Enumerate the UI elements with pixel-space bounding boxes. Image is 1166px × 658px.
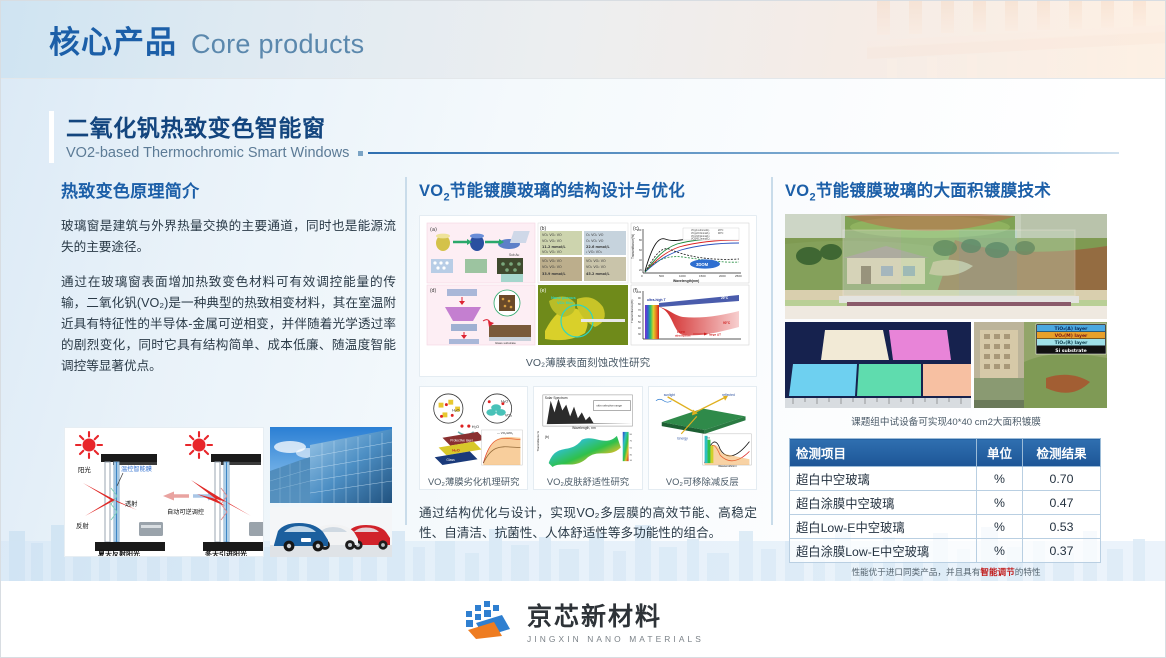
- svg-text:Protective layer: Protective layer: [450, 439, 474, 443]
- svg-text:Wavelength(nm): Wavelength(nm): [673, 279, 699, 283]
- col2-caption-1: VO₂薄膜劣化机理研究: [423, 472, 524, 488]
- svg-text:20°C: 20°C: [721, 296, 729, 300]
- column-large-area-coating: VO2节能镀膜玻璃的大面积镀膜技术: [785, 177, 1107, 578]
- column-structure-design: VO2节能镀膜玻璃的结构设计与优化 (a) Sub Au: [419, 177, 757, 543]
- cell-unit: %: [977, 467, 1023, 491]
- svg-text:Glass: Glass: [446, 458, 455, 462]
- svg-text:TiO₂(R) layer: TiO₂(R) layer: [1055, 340, 1089, 346]
- smart-window-schematic: 阳光 反射 透射 温控智能膜 自动可逆调控: [64, 427, 264, 557]
- svg-text:45.2 mmol/L: 45.2 mmol/L: [586, 272, 610, 276]
- svg-text:90°C: 90°C: [718, 232, 724, 235]
- svg-text:500: 500: [659, 274, 664, 278]
- vo2-etching-figure-icon: (a) Sub Au: [425, 221, 751, 347]
- svg-text:夏天反射阳光: 夏天反射阳光: [97, 549, 140, 557]
- svg-text:Si substrate: Si substrate: [1055, 348, 1086, 354]
- col2-paragraph: 通过结构优化与设计，实现VO₂多层膜的高效节能、高稳定性、自清洁、抗菌性、人体舒…: [419, 503, 757, 543]
- col1-heading: 热致变色原理简介: [61, 177, 396, 202]
- col2-subfigure-3: sunlight reflected Energy Wavelength(nm)…: [648, 386, 757, 490]
- col3-photo-block: TiO₂(A) layer VO₂(M) layer TiO₂(R) layer…: [785, 214, 1107, 428]
- svg-text:温控智能膜: 温控智能膜: [121, 465, 152, 473]
- col3-heading: VO2节能镀膜玻璃的大面积镀膜技术: [785, 177, 1107, 203]
- col2-figure-grid: (a) Sub Au: [419, 215, 757, 377]
- col2-heading-prefix: VO: [419, 182, 443, 200]
- svg-text:O₂ VO₂ VO: O₂ VO₂ VO: [586, 239, 604, 243]
- svg-text:VO₂ VO₂ VO: VO₂ VO₂ VO: [586, 259, 606, 263]
- svg-text:skin selective range: skin selective range: [597, 404, 623, 408]
- color-samples-photo-icon: [785, 322, 971, 408]
- svg-text:ultra-high T: ultra-high T: [647, 298, 667, 302]
- col2-subfigure-2: skin selective range Solar Spectrum Wave…: [533, 386, 642, 490]
- svg-text:Energy: Energy: [677, 437, 688, 441]
- table-row: 超白Low-E中空玻璃 % 0.53: [790, 515, 1101, 539]
- svg-text:H₂O: H₂O: [452, 408, 459, 413]
- svg-text:33.9 mmol/L: 33.9 mmol/L: [542, 272, 566, 276]
- svg-text:— VO₂/HfO₂: — VO₂/HfO₂: [497, 431, 513, 435]
- svg-text:Glass substrate: Glass substrate: [495, 341, 516, 345]
- svg-text:自动可逆调控: 自动可逆调控: [167, 508, 204, 516]
- company-logo: 京芯新材料 JINGXIN NANO MATERIALS: [464, 597, 704, 644]
- cell-unit: %: [977, 539, 1023, 563]
- antireflection-layer-icon: sunlight reflected Energy Wavelength(nm)…: [652, 391, 753, 467]
- cell-unit: %: [977, 491, 1023, 515]
- table-row: 超白涂膜Low-E中空玻璃 % 0.37: [790, 539, 1101, 563]
- cell-value: 0.37: [1023, 539, 1101, 563]
- table-row: 超白涂膜中空玻璃 % 0.47: [790, 491, 1101, 515]
- svg-text:(d): (d): [430, 288, 436, 294]
- cell-value: 0.53: [1023, 515, 1101, 539]
- svg-text:VO₂(M) layer: VO₂(M) layer: [1055, 333, 1088, 339]
- svg-text:VO₂ VO₂ VO: VO₂ VO₂ VO: [542, 259, 562, 263]
- cell-item: 超白涂膜中空玻璃: [790, 491, 977, 515]
- footnote-before: 性能优于进口同类产品，并且具有: [851, 567, 980, 577]
- svg-text:1000: 1000: [679, 274, 686, 278]
- col3-heading-rest: 节能镀膜玻璃的大面积镀膜技术: [816, 182, 1051, 200]
- th-unit: 单位: [977, 439, 1023, 467]
- svg-text:2000: 2000: [719, 274, 726, 278]
- degradation-mechanism-icon: H₂O H₂O VO₂ H₂O Protective layer H₂O Gla…: [423, 391, 524, 467]
- svg-text:反射: 反射: [76, 521, 89, 530]
- svg-text:Solar Spectrum: Solar Spectrum: [545, 396, 568, 400]
- slide-root: 核心产品 Core products: [0, 0, 1166, 658]
- coated-samples-photo: [785, 322, 971, 408]
- col1-photo-stack: [270, 427, 392, 557]
- large-panel-photo: [785, 214, 1107, 319]
- svg-text:Transmittance %: Transmittance %: [537, 431, 540, 452]
- col3-photo-caption: 课题组中试设备可实现40*40 cm2大面积镀膜: [785, 414, 1107, 428]
- test-results-table: 检测项目 单位 检测结果 超白中空玻璃 % 0.70 超白涂膜中空玻璃 % 0.…: [789, 438, 1101, 563]
- col1-paragraph-2: 通过在玻璃窗表面增加热致变色材料可有效调控能量的传输，二氧化钒(VO₂)是一种典…: [61, 272, 396, 377]
- layer-stack-diagram-icon: TiO₂(A) layer VO₂(M) layer TiO₂(R) layer…: [974, 322, 1107, 408]
- col3-heading-prefix: VO: [785, 182, 809, 200]
- cell-item: 超白涂膜Low-E中空玻璃: [790, 539, 977, 563]
- svg-text:VO₂(45.2mmol/L): VO₂(45.2mmol/L): [691, 238, 710, 241]
- header-title: 核心产品 Core products: [49, 17, 364, 62]
- cars-photo: [270, 507, 392, 557]
- campus-field-photo-icon: [785, 214, 1107, 319]
- building-watermark-icon: [867, 1, 1166, 79]
- svg-text:sunlight: sunlight: [663, 393, 674, 397]
- svg-text:VO₂ VO₂ VO: VO₂ VO₂ VO: [542, 233, 562, 237]
- svg-text:100: 100: [637, 291, 642, 294]
- svg-text:(e): (e): [540, 288, 546, 294]
- cars-photo-icon: [270, 507, 392, 557]
- svg-text:absorption: absorption: [675, 334, 691, 338]
- column-divider-2: [771, 177, 773, 525]
- th-item: 检测项目: [790, 439, 977, 467]
- col3-lower-photos: TiO₂(A) layer VO₂(M) layer TiO₂(R) layer…: [785, 322, 1107, 408]
- film-stack-photo: TiO₂(A) layer VO₂(M) layer TiO₂(R) layer…: [974, 322, 1107, 408]
- svg-text:100: 100: [637, 228, 642, 232]
- glass-building-photo-icon: [270, 427, 392, 503]
- svg-text:Wavelength(nm): Wavelength(nm): [718, 465, 737, 467]
- svg-text:(a): (a): [430, 227, 437, 233]
- header-title-en: Core products: [191, 29, 364, 60]
- svg-text:Transmittance(%): Transmittance(%): [630, 300, 634, 324]
- svg-text:阳光: 阳光: [78, 465, 91, 474]
- col2-heading: VO2节能镀膜玻璃的结构设计与优化: [419, 177, 757, 203]
- svg-text:透射: 透射: [125, 500, 137, 508]
- svg-text:(b): (b): [545, 435, 549, 439]
- section-title-cn: 二氧化钒热致变色智能窗: [66, 109, 1119, 143]
- section-title-en: VO2-based Thermochromic Smart Windows: [66, 145, 349, 161]
- svg-text:Transmittance(%): Transmittance(%): [631, 234, 635, 259]
- logo-text-en: JINGXIN NANO MATERIALS: [527, 634, 704, 644]
- header-title-cn: 核心产品: [49, 17, 177, 62]
- col2-caption-3: VO₂可移除减反层: [652, 472, 753, 488]
- col2-subfigure-row: H₂O H₂O VO₂ H₂O Protective layer H₂O Gla…: [419, 386, 757, 490]
- svg-text:11.2 mmol/L: 11.2 mmol/L: [542, 245, 566, 249]
- footnote-highlight: 智能调节: [980, 567, 1014, 577]
- logo-text-cn: 京芯新材料: [527, 597, 704, 633]
- cell-unit: %: [977, 515, 1023, 539]
- col2-main-caption: VO₂薄膜表面刻蚀改性研究: [425, 352, 751, 371]
- svg-text:22.6 mmol/L: 22.6 mmol/L: [586, 245, 610, 249]
- svg-text:VO₂ VO₂ VO: VO₂ VO₂ VO: [542, 239, 562, 243]
- svg-text:1500: 1500: [699, 274, 706, 278]
- cell-item: 超白中空玻璃: [790, 467, 977, 491]
- smart-window-diagram-icon: 阳光 反射 透射 温控智能膜 自动可逆调控: [65, 428, 264, 557]
- column-principle: 热致变色原理简介 玻璃窗是建筑与外界热量交换的主要通道，同时也是能源流失的主要途…: [61, 177, 396, 377]
- svg-text:H₂O: H₂O: [501, 399, 508, 404]
- column-divider-1: [405, 177, 407, 525]
- col1-figure-group: 阳光 反射 透射 温控智能膜 自动可逆调控: [64, 427, 392, 557]
- svg-text:90°C: 90°C: [723, 321, 731, 325]
- svg-text:VO₂ VO₂ VO: VO₂ VO₂ VO: [542, 250, 562, 254]
- footnote-after: 的特性: [1015, 567, 1041, 577]
- col2-caption-2: VO₂皮肤舒适性研究: [537, 472, 638, 488]
- col1-paragraph-1: 玻璃窗是建筑与外界热量交换的主要通道，同时也是能源流失的主要途径。: [61, 216, 396, 258]
- col2-subfigure-1: H₂O H₂O VO₂ H₂O Protective layer H₂O Gla…: [419, 386, 528, 490]
- svg-text:TiO₂(A) layer: TiO₂(A) layer: [1055, 326, 1089, 332]
- section-accent-bar: [49, 111, 54, 163]
- svg-text:H₂O: H₂O: [452, 448, 460, 453]
- svg-text:2500: 2500: [735, 274, 742, 278]
- section-subtitle-row: VO2-based Thermochromic Smart Windows: [66, 145, 1119, 161]
- glass-building-photo: [270, 427, 392, 503]
- svg-text:large ΔT: large ΔT: [709, 333, 721, 337]
- table-row: 超白中空玻璃 % 0.70: [790, 467, 1101, 491]
- section-rule-line: [368, 152, 1119, 154]
- svg-text:Sub Au: Sub Au: [509, 253, 520, 257]
- svg-text:VO₂ film: VO₂ film: [557, 300, 573, 305]
- svg-text:H₂O: H₂O: [472, 424, 479, 429]
- slide-header: 核心产品 Core products: [1, 1, 1166, 79]
- svg-text:VO₂: VO₂: [505, 413, 513, 418]
- svg-text:3DOM: 3DOM: [696, 262, 709, 267]
- section-title-block: 二氧化钒热致变色智能窗 VO2-based Thermochromic Smar…: [49, 109, 1119, 161]
- cell-value: 0.70: [1023, 467, 1101, 491]
- svg-text:O₂ VO₂ VO: O₂ VO₂ VO: [586, 233, 604, 237]
- th-result: 检测结果: [1023, 439, 1101, 467]
- table-header-row: 检测项目 单位 检测结果: [790, 439, 1101, 467]
- skin-comfort-icon: skin selective range Solar Spectrum Wave…: [537, 391, 638, 467]
- logo-text-block: 京芯新材料 JINGXIN NANO MATERIALS: [527, 597, 704, 644]
- table-footnote: 性能优于进口同类产品，并且具有智能调节的特性: [785, 566, 1107, 578]
- svg-text:reflected: reflected: [722, 393, 735, 397]
- cell-item: 超白Low-E中空玻璃: [790, 515, 977, 539]
- col2-heading-rest: 节能镀膜玻璃的结构设计与优化: [450, 182, 685, 200]
- svg-text:Wavelength, nm: Wavelength, nm: [572, 426, 596, 430]
- svg-text:冬天引进阳光: 冬天引进阳光: [205, 549, 247, 557]
- svg-text:VO₂ VO₂ VO: VO₂ VO₂ VO: [586, 265, 606, 269]
- svg-text:₂ VO₂ VO₂: ₂ VO₂ VO₂: [586, 250, 603, 254]
- jingxin-logo-mark-icon: [464, 599, 516, 641]
- section-dot-icon: [358, 151, 363, 156]
- slide-footer: 京芯新材料 JINGXIN NANO MATERIALS: [1, 581, 1166, 658]
- svg-text:VO₂ VO₂ VO: VO₂ VO₂ VO: [542, 265, 562, 269]
- cell-value: 0.47: [1023, 491, 1101, 515]
